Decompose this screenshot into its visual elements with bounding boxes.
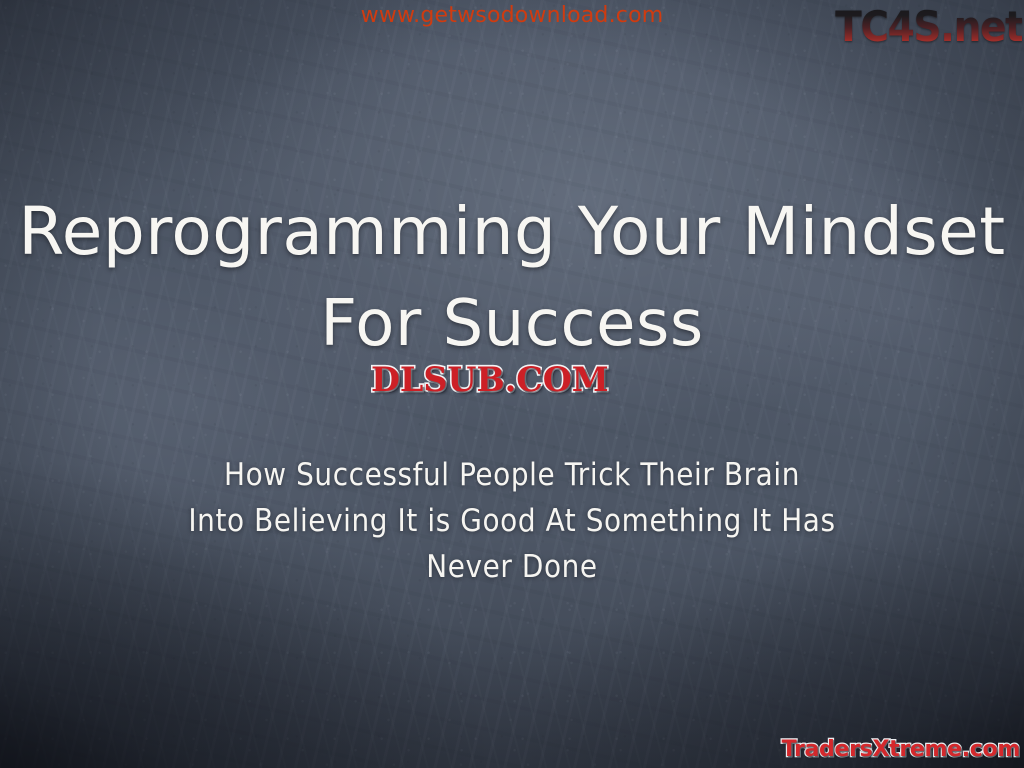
watermark-dlsub-logo: DLSUB.COM xyxy=(371,360,609,400)
slide-subtitle-line-3: Never Done xyxy=(0,544,1024,590)
slide-subtitle: How Successful People Trick Their Brain … xyxy=(0,452,1024,590)
presentation-slide: www.getwsodownload.com TC4S.net Reprogra… xyxy=(0,0,1024,768)
slide-title: Reprogramming Your Mindset For Success xyxy=(0,186,1024,370)
slide-subtitle-line-2: Into Believing It is Good At Something I… xyxy=(0,498,1024,544)
watermark-tradersxtreme-logo: TradersXtreme.com xyxy=(782,737,1020,762)
watermark-tc4s-logo: TC4S.net xyxy=(835,2,1022,51)
slide-title-line-2: For Success xyxy=(0,278,1024,370)
slide-subtitle-line-1: How Successful People Trick Their Brain xyxy=(0,452,1024,498)
slide-title-line-1: Reprogramming Your Mindset xyxy=(0,186,1024,278)
